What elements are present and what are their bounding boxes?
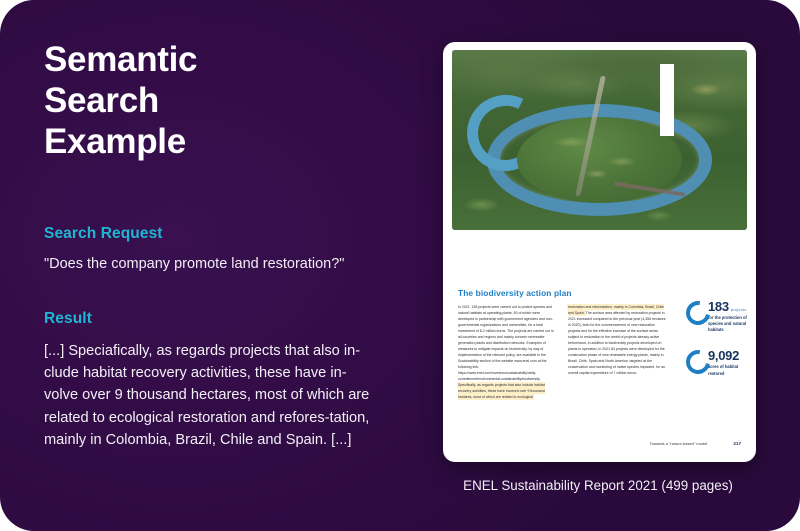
stat-value: 183 <box>708 300 729 313</box>
result-label: Result <box>44 310 92 328</box>
stat-item: 9,092 acres of habitat restored <box>688 349 750 376</box>
document-footer: Towards a "nature-based" model 217 <box>458 441 741 446</box>
document-column-1: In 2021, 183 projects were carried out t… <box>458 304 556 400</box>
footer-running-title: Towards a "nature-based" model <box>650 441 708 446</box>
search-query-text: "Does the company promote land restorati… <box>44 254 394 275</box>
column-2-body: The surface area affected by restoration… <box>568 311 665 375</box>
page-title: Semantic Search Example <box>44 40 394 163</box>
document-statistics: 183 projects for the protection of speci… <box>688 300 750 393</box>
document-text-columns: In 2021, 183 projects were carried out t… <box>458 304 678 400</box>
document-page-preview[interactable]: The biodiversity action plan In 2021, 18… <box>443 42 756 462</box>
aerial-river-meander-photo <box>452 50 747 230</box>
slide-canvas: Semantic Search Example Search Request "… <box>0 0 800 531</box>
stat-description: for the protection of species and natura… <box>708 315 750 333</box>
stat-value: 9,092 <box>708 349 739 362</box>
redaction-bar <box>660 64 674 136</box>
left-content-panel: Semantic Search Example Search Request "… <box>44 40 394 163</box>
stat-item: 183 projects for the protection of speci… <box>688 300 750 333</box>
stat-unit: projects <box>731 307 747 312</box>
stat-description: acres of habitat restored <box>708 364 750 376</box>
document-column-2: restoration and reforestation, mainly in… <box>568 304 666 400</box>
document-caption: ENEL Sustainability Report 2021 (499 pag… <box>428 478 768 493</box>
search-request-label: Search Request <box>44 225 163 243</box>
column-1-highlight: Specifically, as regards projects that a… <box>458 383 545 399</box>
document-section-heading: The biodiversity action plan <box>458 288 572 298</box>
result-text: [...] Speciafically, as regards projects… <box>44 340 380 451</box>
column-1-body: In 2021, 183 projects were carried out t… <box>458 305 554 381</box>
page-number: 217 <box>733 441 741 446</box>
photo-fields-layer <box>452 50 747 230</box>
